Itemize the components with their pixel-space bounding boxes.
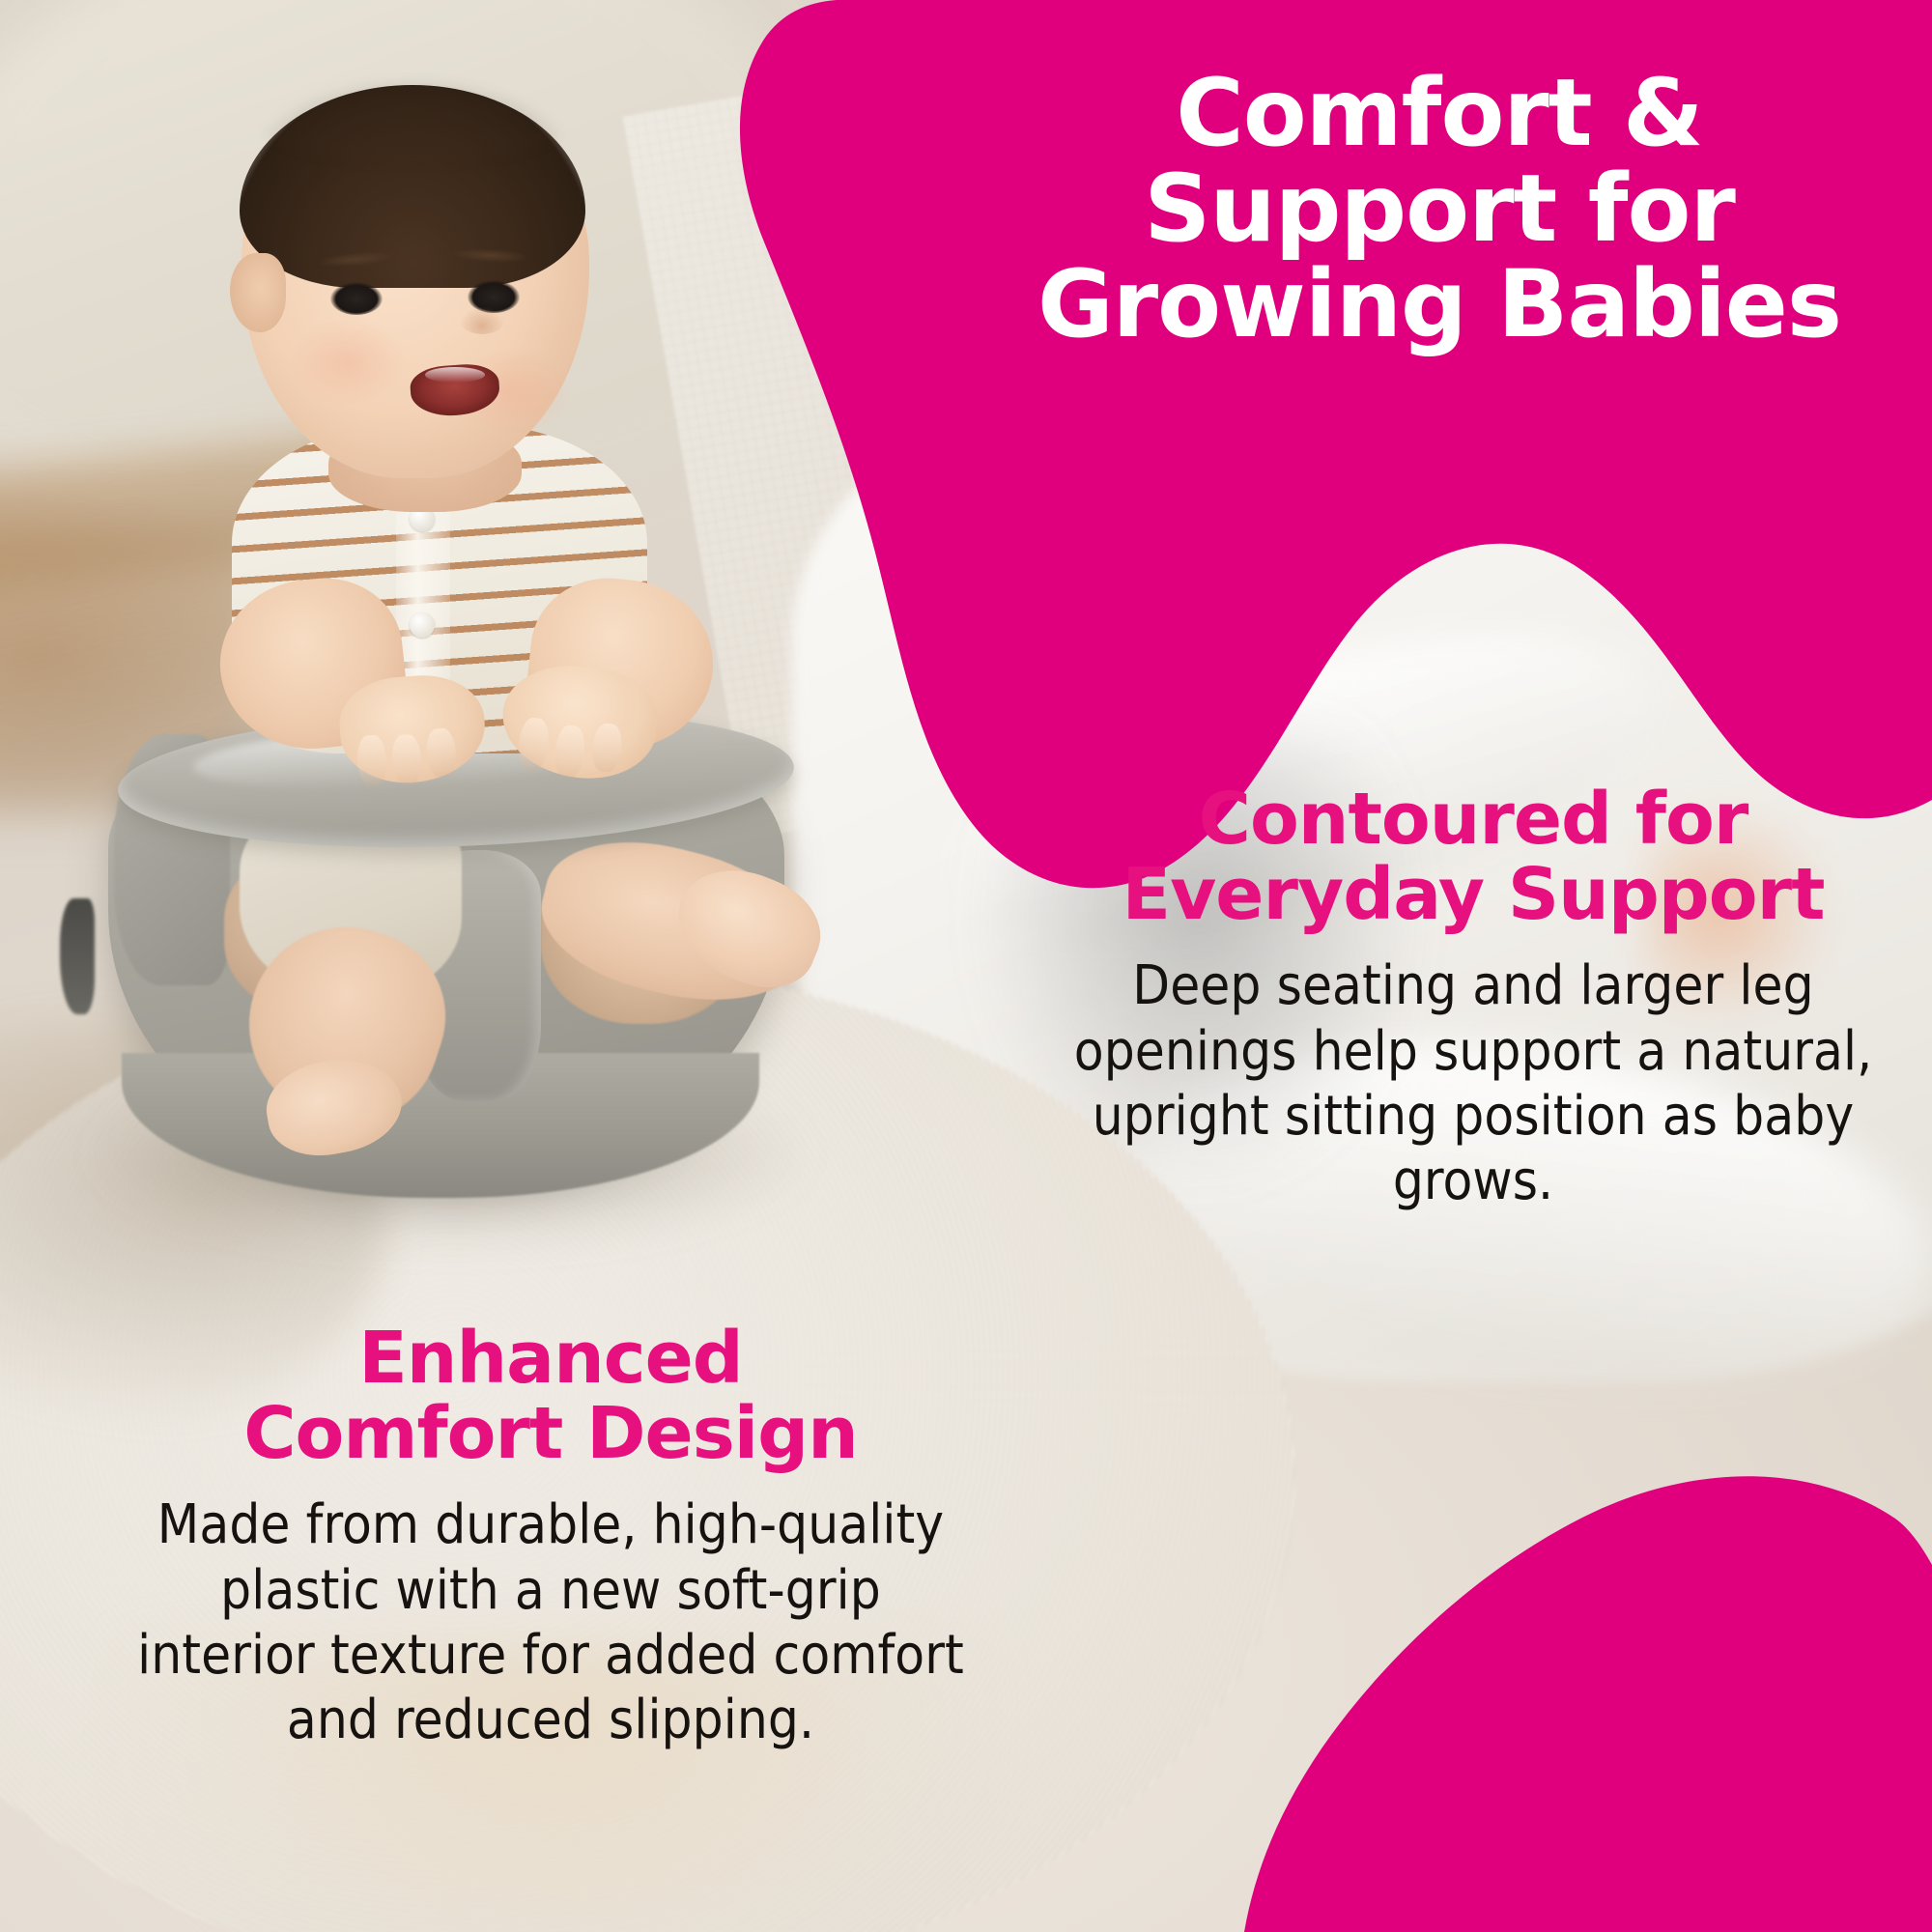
hero-title-line-1: Comfort & <box>976 66 1903 161</box>
baby-nose <box>460 307 504 334</box>
feature-title-line-1: Contoured for <box>1199 778 1748 861</box>
baby-teeth-highlight <box>425 367 485 383</box>
feature-title-line-1: Enhanced <box>358 1317 743 1400</box>
hero-title-line-2: Support for <box>976 161 1903 257</box>
feature-title-line-2: Comfort Design <box>243 1392 858 1475</box>
feature-body-contoured: Deep seating and larger leg openings hel… <box>1053 953 1893 1213</box>
feature-enhanced-comfort-design: Enhanced Comfort Design Made from durabl… <box>126 1321 976 1752</box>
feature-title-line-2: Everyday Support <box>1122 853 1825 936</box>
romper-snap <box>410 612 435 638</box>
feature-contoured-for-everyday-support: Contoured for Everyday Support Deep seat… <box>1053 782 1893 1213</box>
feature-title-enhanced: Enhanced Comfort Design <box>126 1321 976 1471</box>
baby-eye-left <box>330 282 383 315</box>
infographic-canvas: Comfort & Support for Growing Babies Con… <box>0 0 1932 1932</box>
hero-title-line-3: Growing Babies <box>976 257 1903 353</box>
baby-ear <box>230 253 286 332</box>
feature-body-enhanced: Made from durable, high-quality plastic … <box>126 1492 976 1752</box>
baby-cheek-left <box>290 319 406 406</box>
baby-hair-wisps <box>253 79 572 162</box>
baby-seat-strap-slot <box>60 898 95 1014</box>
feature-title-contoured: Contoured for Everyday Support <box>1053 782 1893 932</box>
hero-title: Comfort & Support for Growing Babies <box>976 66 1903 353</box>
